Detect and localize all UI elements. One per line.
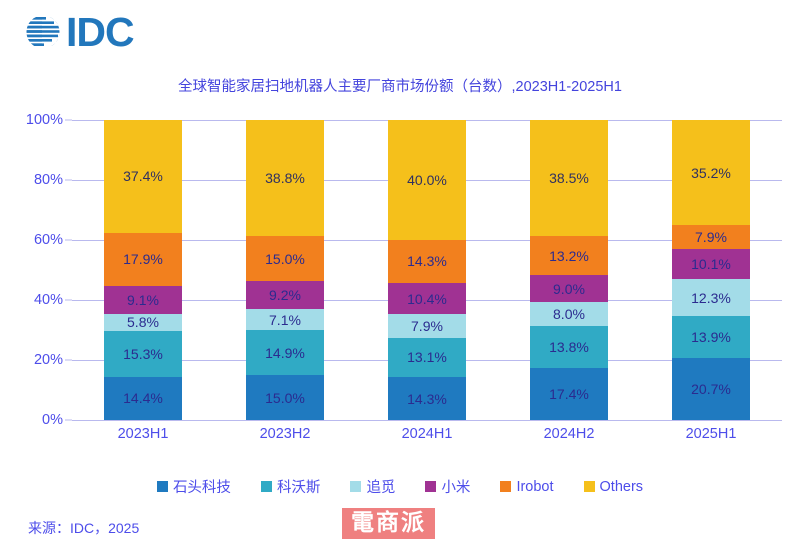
bar-segment: 35.2% (672, 120, 749, 226)
bar-segment: 13.9% (672, 316, 749, 358)
legend-label: 小米 (441, 476, 470, 497)
bar-segment-value: 40.0% (407, 173, 447, 187)
bar-segment: 13.1% (388, 338, 465, 377)
bar-segment-value: 12.3% (691, 291, 731, 305)
legend-swatch (500, 481, 511, 492)
bar-segment: 9.2% (246, 281, 323, 309)
bar-segment: 7.1% (246, 309, 323, 330)
bar-segment-value: 15.0% (265, 391, 305, 405)
bar-segment: 17.4% (530, 368, 607, 420)
idc-logo-wordmark: IDC (66, 12, 134, 53)
bar-segment: 15.0% (246, 236, 323, 281)
globe-icon (22, 11, 64, 53)
legend-swatch (350, 481, 361, 492)
y-axis-tick-label: 80% (34, 172, 63, 188)
bar-segment-value: 14.3% (407, 392, 447, 406)
y-axis-tick (65, 120, 72, 121)
legend-item[interactable]: Irobot (500, 479, 553, 495)
bar-segment-value: 10.1% (691, 257, 731, 271)
y-axis-tick (65, 300, 72, 301)
bar-segment: 10.4% (388, 283, 465, 314)
y-axis-tick-label: 0% (42, 412, 63, 428)
chart-title: 全球智能家居扫地机器人主要厂商市场份额（台数）,2023H1-2025H1 (0, 75, 800, 96)
stacked-bars: 14.4%15.3%5.8%9.1%17.9%37.4%15.0%14.9%7.… (72, 120, 782, 420)
bar-segment: 13.2% (530, 236, 607, 276)
x-axis-tick-label: 2024H1 (402, 426, 453, 442)
legend-item[interactable]: 追觅 (350, 476, 395, 497)
idc-logo: IDC (22, 8, 134, 56)
bar-segment-value: 9.2% (269, 288, 301, 302)
bar-segment: 12.3% (672, 279, 749, 316)
bar-segment-value: 38.8% (265, 171, 305, 185)
bar-segment-value: 9.0% (553, 282, 585, 296)
bar-segment: 15.3% (104, 331, 181, 377)
legend-label: 石头科技 (173, 476, 231, 497)
y-axis-tick (65, 240, 72, 241)
bar-segment: 14.3% (388, 240, 465, 283)
legend-swatch (425, 481, 436, 492)
y-axis-tick (65, 180, 72, 181)
bar-segment: 14.4% (104, 377, 181, 420)
bar-segment-value: 13.9% (691, 330, 731, 344)
bar-segment: 15.0% (246, 375, 323, 420)
x-axis-tick-label: 2023H1 (118, 426, 169, 442)
bar-segment-value: 13.8% (549, 340, 589, 354)
bar-segment-value: 20.7% (691, 382, 731, 396)
x-axis-tick-label: 2025H1 (686, 426, 737, 442)
bar-segment: 17.9% (104, 233, 181, 287)
y-axis-tick (65, 420, 72, 421)
bar-segment-value: 17.4% (549, 387, 589, 401)
bar-segment-value: 35.2% (691, 166, 731, 180)
legend-label: Irobot (516, 479, 553, 495)
watermark: 電商派 (342, 508, 435, 539)
bar-segment-value: 38.5% (549, 171, 589, 185)
bar-segment-value: 9.1% (127, 293, 159, 307)
bar-segment: 40.0% (388, 120, 465, 240)
x-axis-tick-label: 2024H2 (544, 426, 595, 442)
bar-column: 20.7%13.9%12.3%10.1%7.9%35.2% (672, 120, 749, 420)
bar-segment: 7.9% (672, 225, 749, 249)
bar-segment-value: 7.1% (269, 313, 301, 327)
bar-segment: 9.0% (530, 275, 607, 302)
y-axis-tick-label: 60% (34, 232, 63, 248)
y-axis-tick (65, 360, 72, 361)
bar-segment-value: 7.9% (695, 230, 727, 244)
legend-label: 科沃斯 (277, 476, 321, 497)
bar-segment: 14.9% (246, 330, 323, 375)
legend-label: 追觅 (366, 476, 395, 497)
legend-label: Others (600, 479, 644, 495)
bar-segment-value: 13.2% (549, 249, 589, 263)
legend-swatch (157, 481, 168, 492)
bar-segment: 14.3% (388, 377, 465, 420)
x-axis-tick-label: 2023H2 (260, 426, 311, 442)
plot-area: 0%20%40%60%80%100% 14.4%15.3%5.8%9.1%17.… (72, 120, 782, 420)
legend-item[interactable]: 小米 (425, 476, 470, 497)
bar-segment-value: 15.3% (123, 347, 163, 361)
legend-item[interactable]: 石头科技 (157, 476, 231, 497)
x-axis-labels: 2023H12023H22024H12024H22025H1 (72, 426, 782, 450)
bar-segment-value: 8.0% (553, 307, 585, 321)
legend-swatch (584, 481, 595, 492)
bar-segment: 38.8% (246, 120, 323, 236)
bar-segment-value: 15.0% (265, 252, 305, 266)
y-axis-tick-label: 20% (34, 352, 63, 368)
bar-segment: 13.8% (530, 326, 607, 367)
legend-swatch (261, 481, 272, 492)
bar-segment: 38.5% (530, 120, 607, 236)
bar-segment-value: 10.4% (407, 292, 447, 306)
bar-segment: 8.0% (530, 302, 607, 326)
legend-item[interactable]: Others (584, 479, 644, 495)
y-axis-tick-label: 40% (34, 292, 63, 308)
bar-segment-value: 37.4% (123, 169, 163, 183)
y-axis-tick-label: 100% (26, 112, 63, 128)
source-note: 来源：IDC，2025 (28, 518, 139, 538)
x-axis-line (72, 420, 782, 421)
bar-segment: 5.8% (104, 314, 181, 331)
bar-column: 14.4%15.3%5.8%9.1%17.9%37.4% (104, 120, 181, 420)
bar-segment-value: 13.1% (407, 350, 447, 364)
bar-segment-value: 17.9% (123, 252, 163, 266)
bar-column: 17.4%13.8%8.0%9.0%13.2%38.5% (530, 120, 607, 420)
bar-segment-value: 5.8% (127, 315, 159, 329)
bar-column: 15.0%14.9%7.1%9.2%15.0%38.8% (246, 120, 323, 420)
bar-segment-value: 7.9% (411, 319, 443, 333)
bar-segment-value: 14.9% (265, 346, 305, 360)
bar-segment: 10.1% (672, 249, 749, 279)
legend-item[interactable]: 科沃斯 (261, 476, 321, 497)
bar-segment: 20.7% (672, 358, 749, 420)
bar-segment: 9.1% (104, 286, 181, 313)
bar-segment-value: 14.3% (407, 254, 447, 268)
chart-legend: 石头科技科沃斯追觅小米IrobotOthers (0, 476, 800, 497)
bar-segment: 7.9% (388, 314, 465, 338)
bar-segment: 37.4% (104, 120, 181, 232)
bar-column: 14.3%13.1%7.9%10.4%14.3%40.0% (388, 120, 465, 420)
bar-segment-value: 14.4% (123, 391, 163, 405)
